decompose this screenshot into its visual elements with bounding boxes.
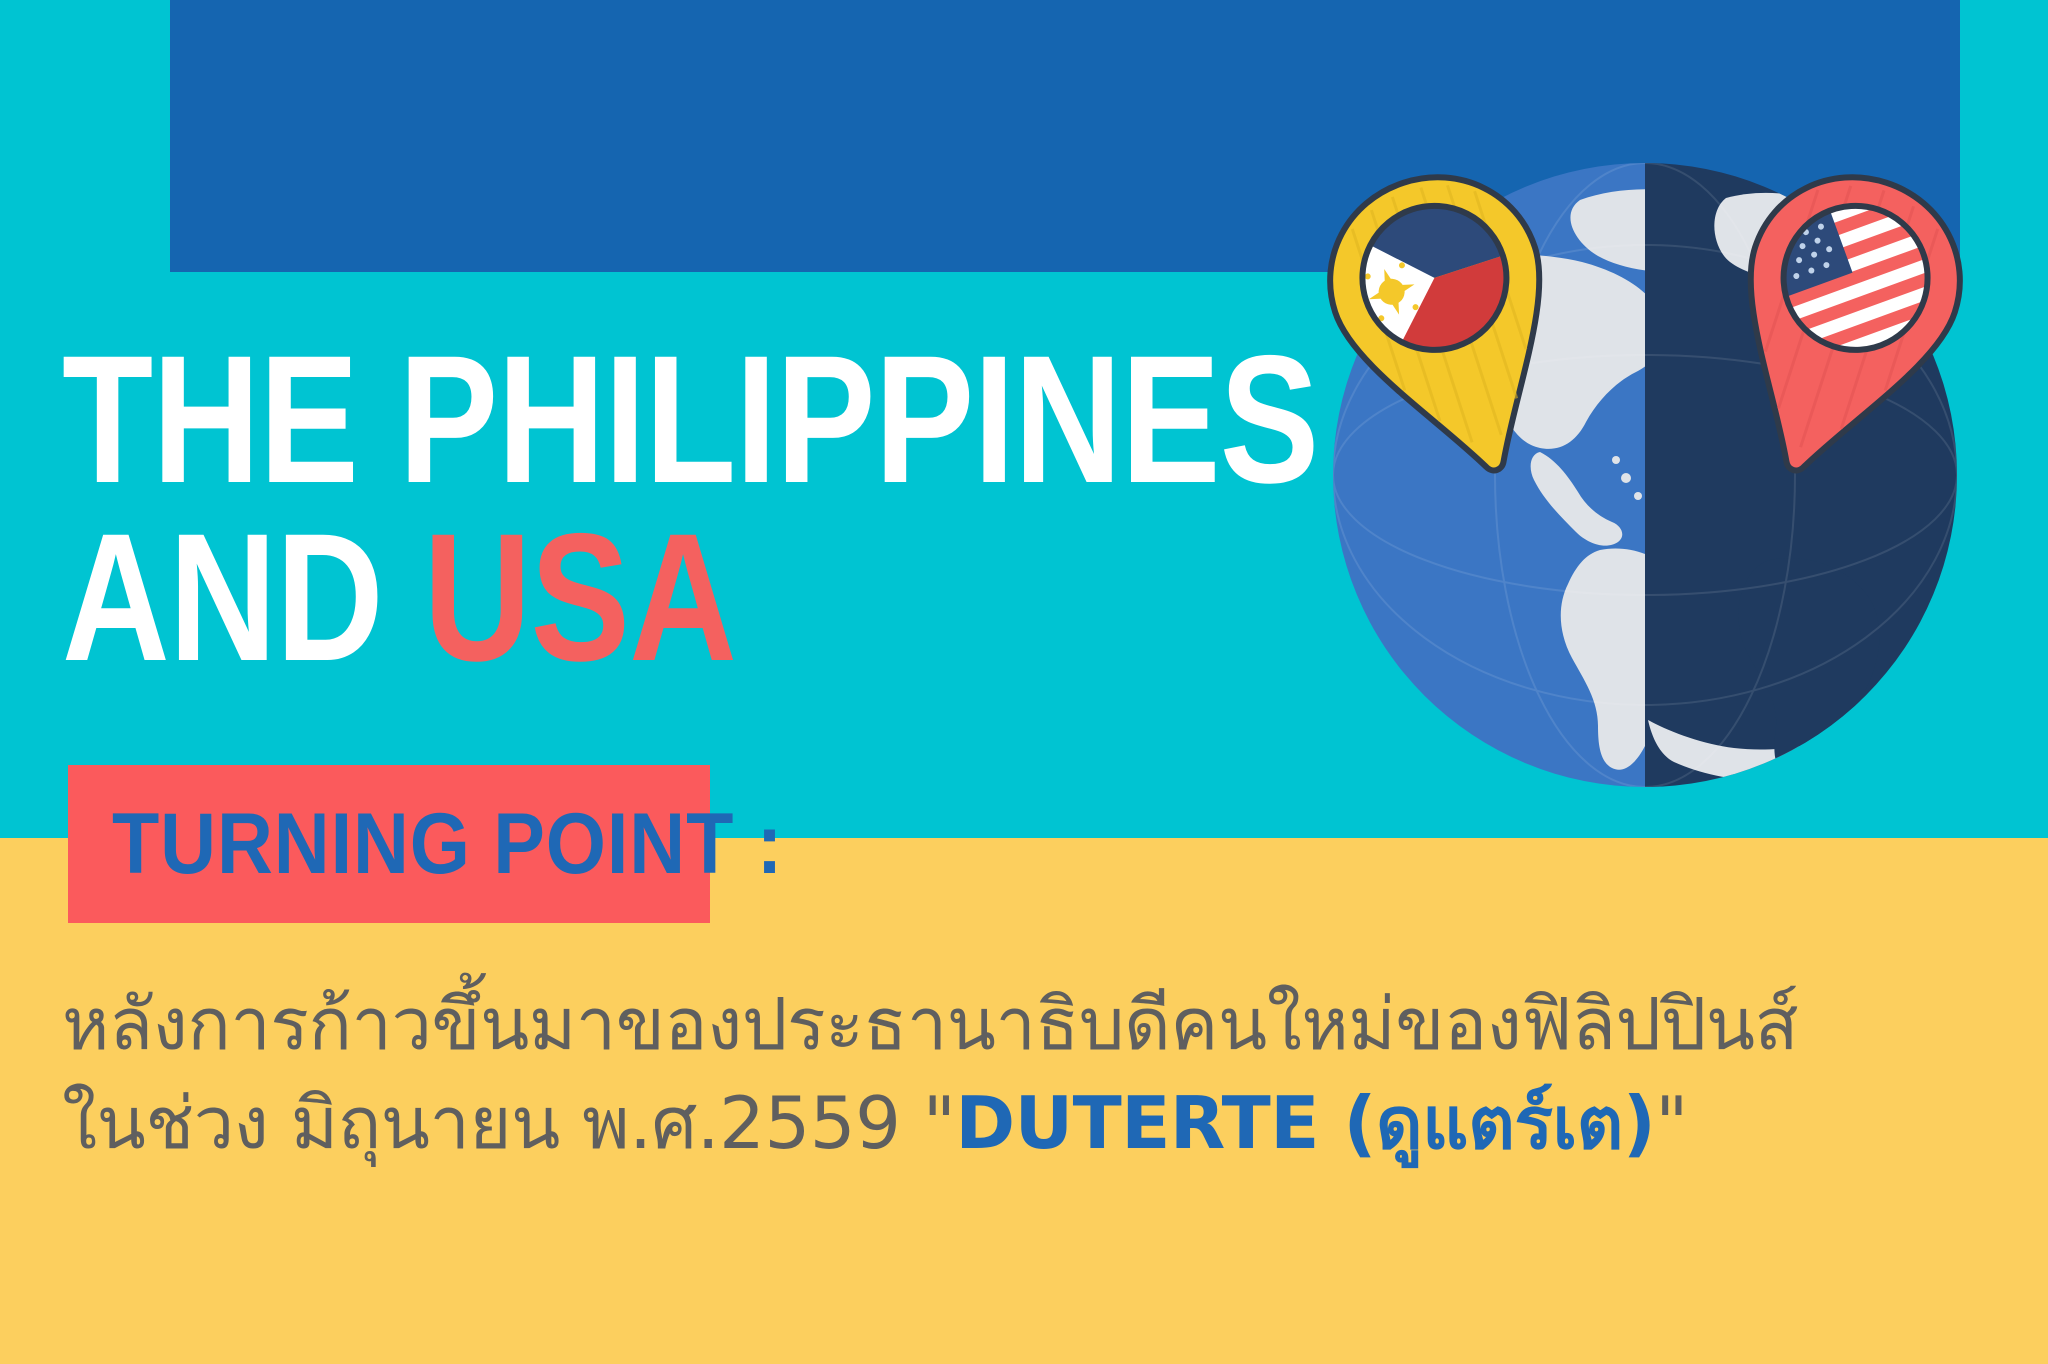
map-pin-usa-flag-icon — [1725, 165, 1975, 495]
body-copy: หลังการก้าวขึ้นมาของประธานาธิบดีคนใหม่ขอ… — [62, 975, 2022, 1174]
title-line-philippines: THE PHILIPPINES — [62, 330, 1128, 508]
title-word-usa: USA — [424, 495, 737, 699]
title-line-and-usa: AND USA — [62, 508, 1128, 686]
infographic-canvas: THE PHILIPPINES AND USA TURNING POINT : … — [0, 0, 2048, 1364]
map-pin-usa — [1725, 165, 1975, 495]
body-line-2-prefix: ในช่วง มิถุนายน พ.ศ.2559 — [62, 1081, 923, 1165]
page-title: THE PHILIPPINES AND USA — [62, 330, 1362, 687]
body-line-1: หลังการก้าวขึ้นมาของประธานาธิบดีคนใหม่ขอ… — [62, 975, 2022, 1074]
body-line-2: ในช่วง มิถุนายน พ.ศ.2559 "DUTERTE (ดูแตร… — [62, 1074, 2022, 1173]
globe-graphic — [1330, 160, 1960, 790]
title-word-and: AND — [62, 495, 424, 699]
close-quote: " — [1655, 1081, 1688, 1165]
duterte-name: DUTERTE (ดูแตร์เต) — [955, 1081, 1655, 1165]
turning-point-badge: TURNING POINT : — [68, 765, 710, 923]
turning-point-label: TURNING POINT : — [112, 795, 783, 894]
open-quote: " — [923, 1081, 956, 1165]
